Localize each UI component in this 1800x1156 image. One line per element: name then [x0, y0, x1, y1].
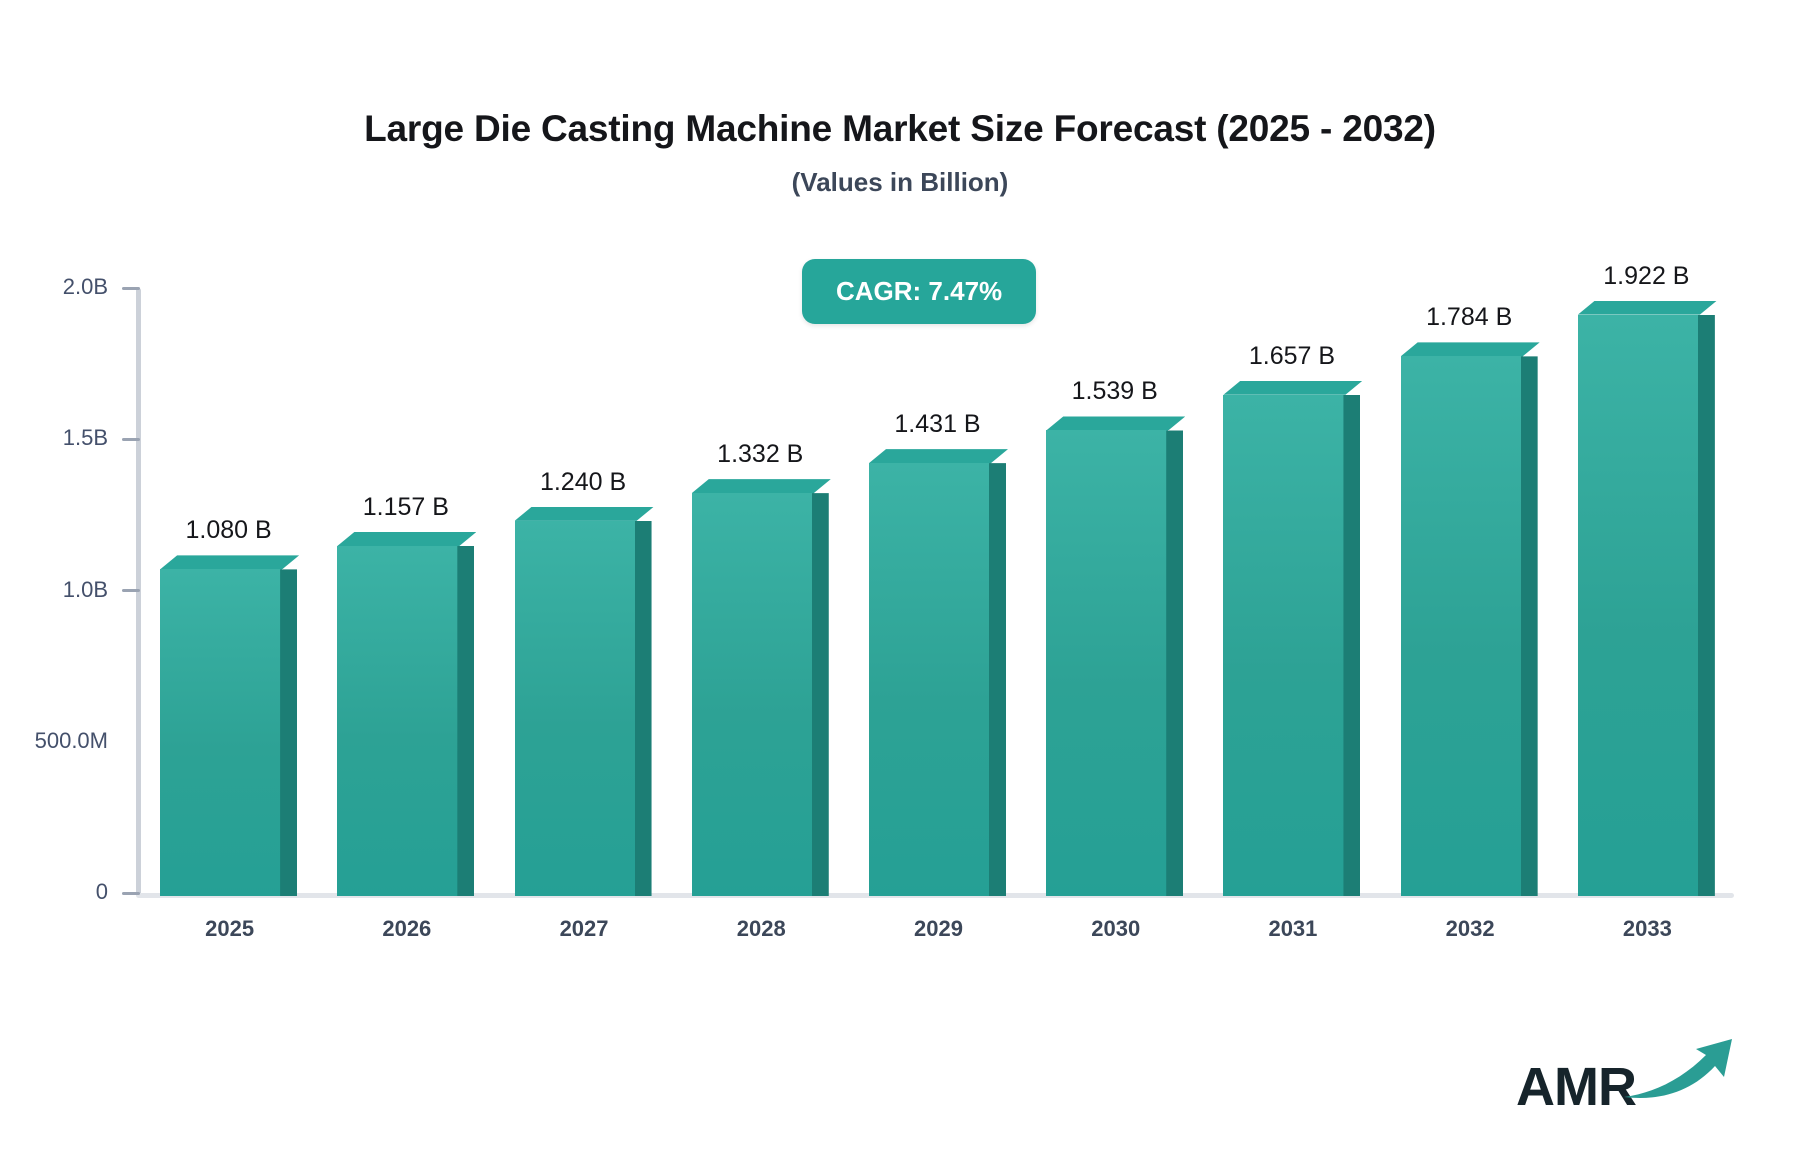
bar-front-face [692, 493, 814, 896]
x-axis-label: 2028 [680, 916, 842, 942]
bar-value-label: 1.240 B [501, 468, 666, 497]
bar-top-face [160, 555, 299, 569]
bar[interactable] [1046, 430, 1183, 896]
x-axis-label: 2029 [858, 916, 1020, 942]
y-axis-tick-mark [122, 438, 140, 441]
bar-side-face [989, 463, 1006, 896]
bar-top-face [1223, 381, 1362, 395]
x-axis-label: 2027 [503, 916, 665, 942]
bar-top-face [692, 479, 831, 493]
bar-top-face [1401, 342, 1540, 356]
x-axis-label: 2030 [1035, 916, 1197, 942]
bar-value-label: 1.431 B [855, 410, 1020, 439]
bar[interactable] [337, 546, 474, 896]
y-axis-tick-label: 1.0B [63, 577, 108, 603]
bar-top-face [515, 507, 654, 521]
bar-side-face [635, 521, 652, 896]
bar-side-face [280, 569, 297, 896]
y-axis-tick-mark [122, 287, 140, 290]
bar-top-face [337, 532, 476, 546]
bar-front-face [1401, 356, 1523, 896]
bar-value-label: 1.922 B [1564, 262, 1729, 291]
x-axis-label: 2032 [1389, 916, 1551, 942]
y-axis-tick-label: 500.0M [35, 728, 108, 754]
bar[interactable] [1223, 395, 1360, 896]
x-axis-label: 2025 [149, 916, 311, 942]
page-title: Large Die Casting Machine Market Size Fo… [0, 108, 1800, 151]
y-axis-tick-label: 2.0B [63, 274, 108, 300]
bar-value-label: 1.657 B [1209, 342, 1374, 371]
x-axis-label: 2033 [1566, 916, 1728, 942]
y-axis-tick-label: 0 [96, 879, 108, 905]
y-axis-tick-label: 1.5B [63, 425, 108, 451]
bar-top-face [1578, 301, 1717, 315]
bar-side-face [1166, 430, 1183, 896]
bar-top-face [1046, 416, 1185, 430]
bar[interactable] [1401, 356, 1538, 896]
bar-front-face [515, 521, 637, 896]
y-axis-tick-mark [122, 892, 140, 895]
bar[interactable] [869, 463, 1006, 896]
bar-front-face [1578, 315, 1700, 896]
bar[interactable] [1578, 315, 1715, 896]
bar-side-face [1698, 315, 1715, 896]
bar-value-label: 1.539 B [1032, 377, 1197, 406]
bar-top-face [869, 449, 1008, 463]
bar-value-label: 1.157 B [323, 493, 488, 522]
chart-page: Large Die Casting Machine Market Size Fo… [0, 0, 1800, 1156]
bar-value-label: 1.332 B [678, 440, 843, 469]
x-axis-label: 2026 [326, 916, 488, 942]
bar[interactable] [692, 493, 829, 896]
bar-value-label: 1.784 B [1387, 303, 1552, 332]
y-axis-tick-mark [122, 589, 140, 592]
bar-side-face [457, 546, 474, 896]
bar-front-face [869, 463, 991, 896]
bar-series: 1.080 B1.157 B1.240 B1.332 B1.431 B1.539… [141, 288, 1736, 896]
bar[interactable] [515, 521, 652, 896]
x-axis-label: 2031 [1212, 916, 1374, 942]
chart-subtitle: (Values in Billion) [0, 167, 1800, 198]
bar-front-face [1046, 430, 1168, 896]
title-block: Large Die Casting Machine Market Size Fo… [0, 108, 1800, 198]
bar-side-face [1521, 356, 1538, 896]
bar-value-label: 1.080 B [146, 516, 311, 545]
growth-arrow-icon [1620, 1035, 1740, 1110]
bar-front-face [1223, 395, 1345, 896]
bar-front-face [160, 569, 282, 896]
bar[interactable] [160, 569, 297, 896]
amr-logo: AMR [1516, 1035, 1740, 1114]
bar-side-face [1343, 395, 1360, 896]
amr-logo-text: AMR [1516, 1060, 1636, 1114]
bar-side-face [812, 493, 829, 896]
bar-front-face [337, 546, 459, 896]
